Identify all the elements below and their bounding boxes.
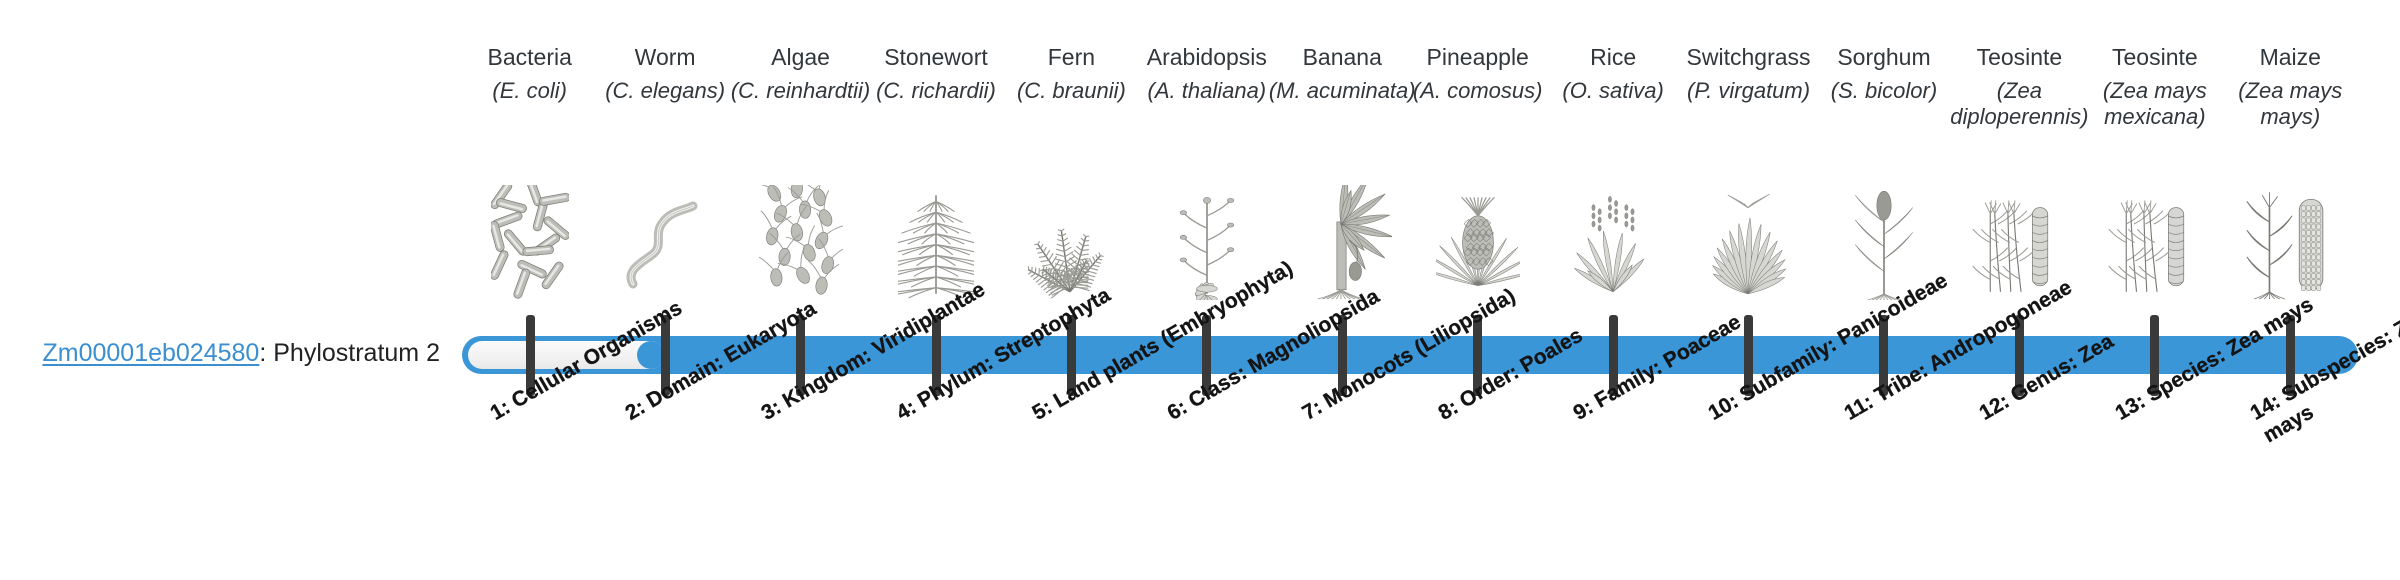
species-scientific-name: (A. thaliana) [1128, 78, 1285, 104]
species-scientific-name: (C. braunii) [993, 78, 1150, 104]
species-common-name: Teosinte [1943, 44, 2096, 71]
species-scientific-name: (E. coli) [451, 78, 608, 104]
species-common-name: Teosinte [2078, 44, 2231, 71]
species-scientific-name: (Zea diploperennis) [1941, 78, 2098, 130]
species-scientific-name: (C. elegans) [586, 78, 743, 104]
species-common-name: Algae [724, 44, 877, 71]
phylostratum-value-text: Phylostratum 2 [273, 339, 440, 367]
species-scientific-name: (O. sativa) [1534, 78, 1691, 104]
gene-phylostratum-label: Zm00001eb024580: Phylostratum 2 [40, 338, 440, 368]
species-common-name: Stonewort [859, 44, 1012, 71]
gene-label-separator: : [259, 339, 273, 367]
species-scientific-name: (M. acuminata) [1264, 78, 1421, 104]
species-common-name: Pineapple [1401, 44, 1554, 71]
species-common-name: Sorghum [1807, 44, 1960, 71]
species-common-name: Arabidopsis [1130, 44, 1283, 71]
gene-id-link[interactable]: Zm00001eb024580 [42, 339, 259, 367]
species-common-name: Maize [2214, 44, 2367, 71]
species-scientific-name: (Zea mays mexicana) [2076, 78, 2233, 130]
species-scientific-name: (S. bicolor) [1805, 78, 1962, 104]
phylostratum-figure: Zm00001eb024580: Phylostratum 2 Bacteria… [0, 0, 2400, 580]
species-scientific-name: (C. richardii) [857, 78, 1014, 104]
species-common-name: Worm [588, 44, 741, 71]
species-scientific-name: (P. virgatum) [1670, 78, 1827, 104]
species-common-name: Switchgrass [1672, 44, 1825, 71]
species-scientific-name: (A. comosus) [1399, 78, 1556, 104]
species-common-name: Banana [1266, 44, 1419, 71]
species-column: Bacteria(E. coli) [462, 0, 597, 580]
species-common-name: Rice [1536, 44, 1689, 71]
species-scientific-name: (Zea mays mays) [2212, 78, 2369, 130]
bacteria-illustration [462, 160, 597, 300]
species-common-name: Fern [995, 44, 1148, 71]
species-common-name: Bacteria [453, 44, 606, 71]
species-scientific-name: (C. reinhardtii) [722, 78, 879, 104]
